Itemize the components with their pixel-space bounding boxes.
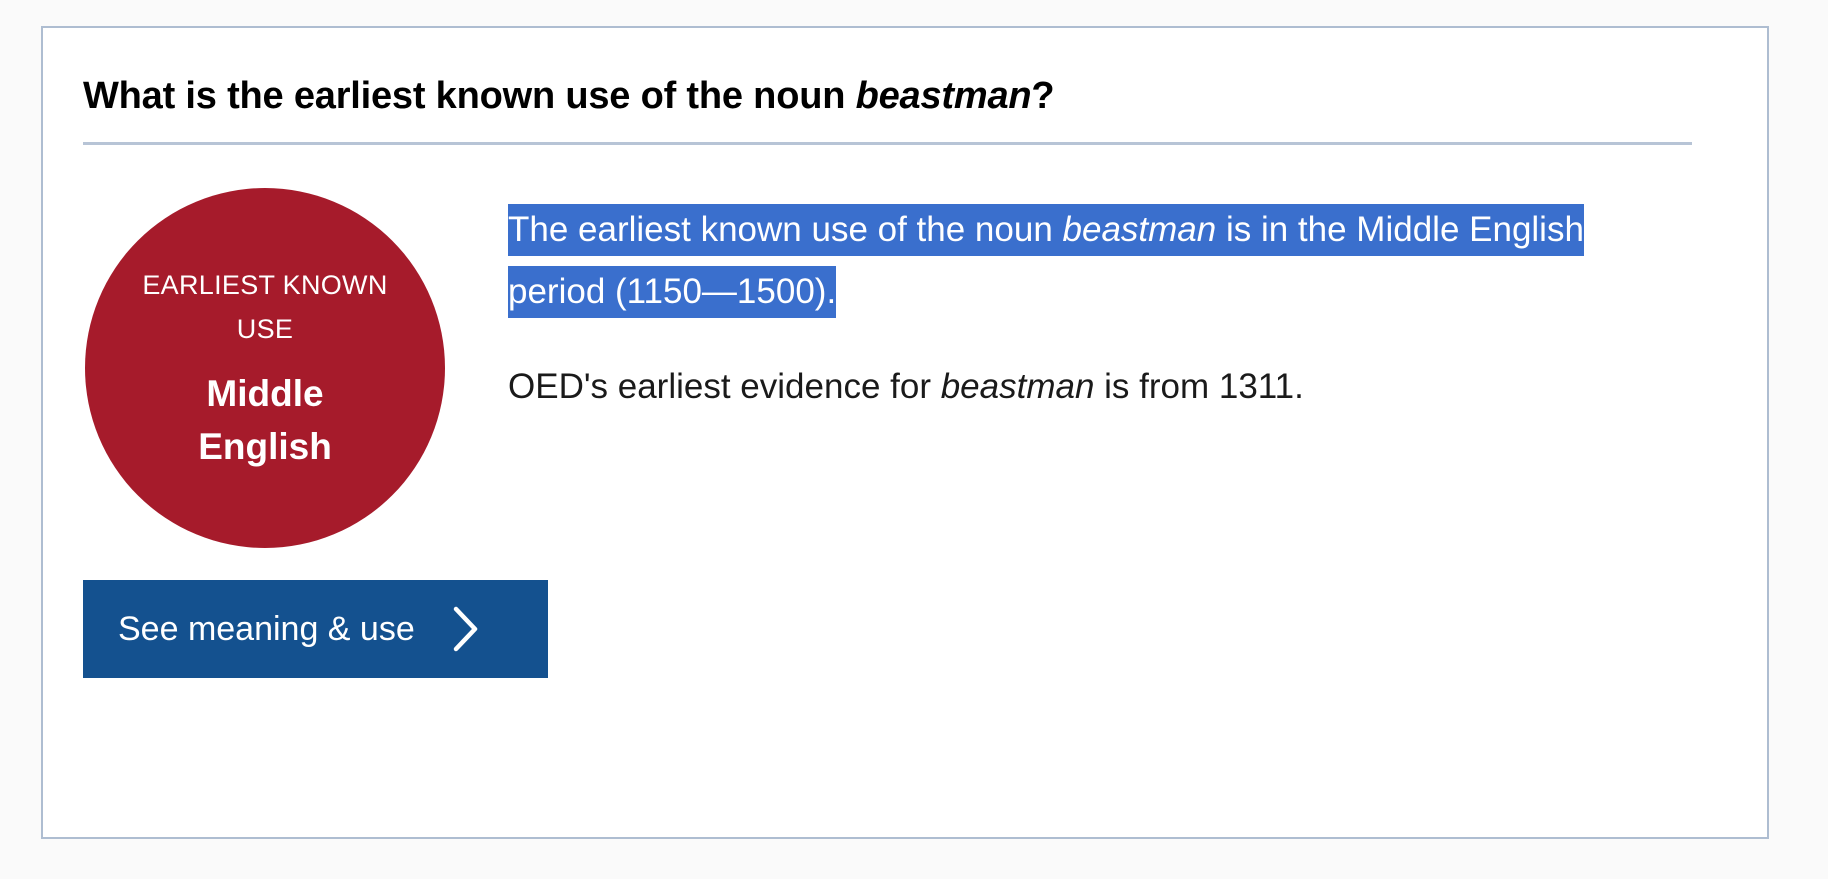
see-meaning-and-use-button[interactable]: See meaning & use bbox=[83, 580, 548, 678]
evidence-paragraph: OED's earliest evidence for beastman is … bbox=[508, 356, 1658, 418]
evidence-prefix: OED's earliest evidence for bbox=[508, 367, 941, 406]
entry-card: What is the earliest known use of the no… bbox=[41, 26, 1769, 839]
card-inner: What is the earliest known use of the no… bbox=[43, 28, 1767, 837]
definition-body: The earliest known use of the noun beast… bbox=[508, 199, 1658, 418]
page-title-term: beastman bbox=[856, 75, 1032, 117]
chevron-right-icon bbox=[451, 606, 481, 652]
page-root: What is the earliest known use of the no… bbox=[0, 0, 1828, 879]
page-title: What is the earliest known use of the no… bbox=[83, 72, 1693, 120]
selected-summary-paragraph[interactable]: The earliest known use of the noun beast… bbox=[508, 199, 1658, 323]
see-meaning-and-use-label: See meaning & use bbox=[118, 609, 415, 649]
selected-summary-term: beastman bbox=[1063, 204, 1217, 256]
evidence-suffix: is from 1311. bbox=[1094, 367, 1303, 406]
badge-period-label: Middle English bbox=[140, 367, 390, 473]
page-title-suffix: ? bbox=[1031, 75, 1054, 117]
title-divider bbox=[83, 142, 1692, 145]
evidence-term: beastman bbox=[941, 367, 1095, 406]
badge-kicker-label: EARLIEST KNOWN USE bbox=[140, 263, 390, 351]
page-title-prefix: What is the earliest known use of the no… bbox=[83, 75, 856, 117]
selected-summary-prefix: The earliest known use of the noun bbox=[508, 204, 1063, 256]
earliest-known-use-badge: EARLIEST KNOWN USE Middle English bbox=[85, 188, 445, 548]
